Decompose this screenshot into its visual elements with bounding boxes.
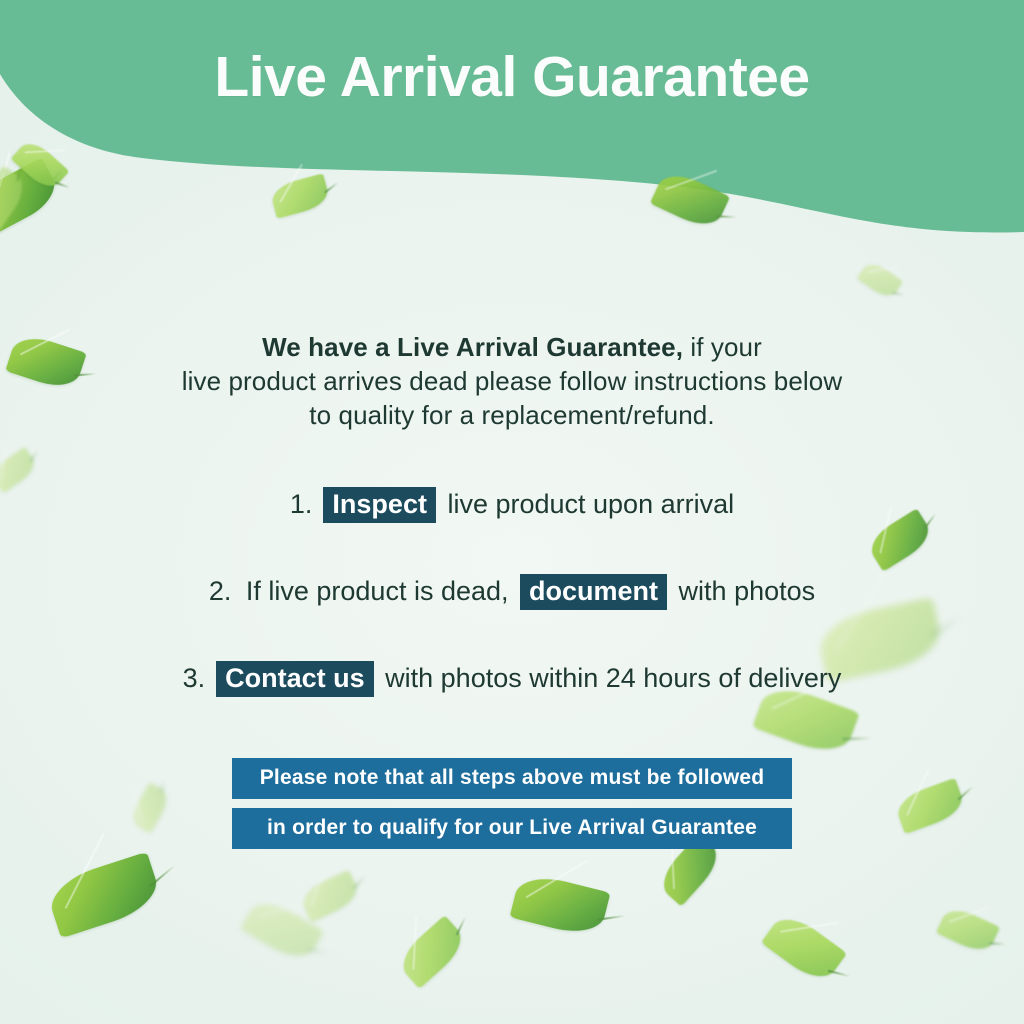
leaf-bottom-mid-1-icon — [240, 894, 324, 966]
leaf-bottom-mid-3-icon — [394, 915, 470, 989]
leaf-stem — [716, 215, 737, 218]
leaf-blade — [11, 136, 70, 193]
leaf-right-upper-icon — [857, 259, 904, 302]
leaf-blade — [936, 904, 1000, 957]
intro-line-1-rest: if your — [683, 332, 762, 362]
notice-line-1: Please note that all steps above must be… — [232, 758, 792, 799]
leaf-stem — [307, 949, 329, 954]
leaf-stem — [828, 970, 851, 977]
leaf-blade — [394, 915, 470, 989]
leaf-stem — [30, 450, 39, 462]
step-highlight: Contact us — [216, 661, 374, 697]
step-item: 2. If live product is dead, document wit… — [0, 574, 1024, 610]
leaf-stem — [54, 182, 69, 189]
step-text-after: live product upon arrival — [440, 489, 734, 519]
leaf-bottom-left-2-icon — [44, 852, 164, 939]
leaf-top-left-1-icon — [0, 157, 63, 234]
step-item: 3.Contact us with photos within 24 hours… — [0, 661, 1024, 697]
step-highlight: Inspect — [323, 487, 436, 523]
leaf-bottom-right-1-icon — [510, 871, 611, 940]
step-number: 2. — [209, 576, 232, 606]
leaf-stem — [353, 876, 366, 890]
leaf-blade — [0, 157, 63, 234]
step-number: 3. — [183, 663, 206, 693]
step-highlight: document — [520, 574, 667, 610]
step-text-after: with photos within 24 hours of delivery — [378, 663, 842, 693]
leaf-bottom-right-3-icon — [761, 909, 847, 988]
leaf-blade — [761, 909, 847, 988]
leaf-top-right-icon — [650, 167, 730, 233]
leaf-stem — [324, 182, 339, 194]
leaf-blade — [510, 871, 611, 940]
leaf-bottom-mid-2-icon — [298, 870, 362, 923]
intro-paragraph: We have a Live Arrival Guarantee, if you… — [0, 330, 1024, 432]
notice-line-2: in order to qualify for our Live Arrival… — [232, 808, 792, 849]
step-text-before: If live product is dead, — [238, 576, 516, 606]
leaf-top-left-2-icon — [11, 136, 70, 193]
leaf-stem — [988, 942, 1005, 945]
leaf-stem — [597, 915, 625, 921]
leaf-blade — [298, 870, 362, 923]
leaf-stem — [17, 163, 23, 181]
leaf-blade — [857, 259, 904, 302]
leaf-blade — [0, 166, 31, 235]
step-text-after: with photos — [671, 576, 815, 606]
step-item: 1.Inspect live product upon arrival — [0, 487, 1024, 523]
notice-block: Please note that all steps above must be… — [0, 758, 1024, 858]
page-title: Live Arrival Guarantee — [0, 44, 1024, 110]
leaf-stem — [49, 166, 66, 185]
live-arrival-guarantee-infographic: Live Arrival Guarantee We have a Live Ar… — [0, 0, 1024, 1024]
intro-line-1: We have a Live Arrival Guarantee, if you… — [0, 330, 1024, 364]
intro-line-3: to quality for a replacement/refund. — [0, 398, 1024, 432]
intro-lead: We have a Live Arrival Guarantee, — [262, 332, 683, 362]
leaf-blade — [650, 167, 730, 233]
leaf-blade — [269, 173, 331, 218]
leaf-bottom-far-right-icon — [936, 904, 1000, 957]
leaf-blade — [240, 894, 324, 966]
leaf-stem — [456, 917, 467, 936]
step-number: 1. — [290, 489, 313, 519]
leaf-blade — [44, 852, 164, 939]
intro-line-2: live product arrives dead please follow … — [0, 364, 1024, 398]
leaf-top-mid-icon — [269, 173, 331, 218]
leaf-edge-left-upper-icon — [0, 166, 31, 235]
steps-list: 1.Inspect live product upon arrival2. If… — [0, 487, 1024, 748]
leaf-stem — [892, 291, 904, 296]
leaf-stem — [149, 865, 175, 887]
